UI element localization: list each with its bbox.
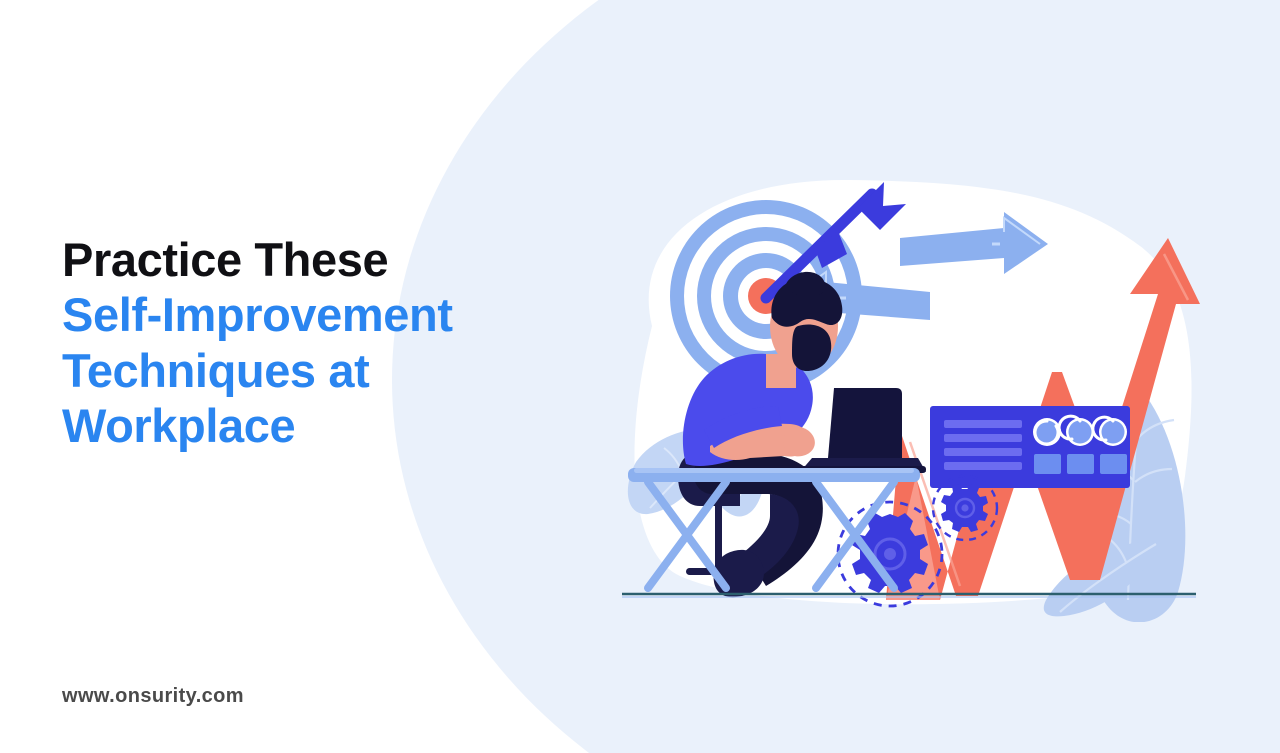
headline-line-3: Techniques at (62, 343, 622, 398)
dashboard-gauges (1033, 416, 1127, 446)
poster-canvas: Practice These Self-Improvement Techniqu… (0, 0, 1280, 753)
hero-illustration (600, 176, 1210, 622)
site-url: www.onsurity.com (62, 685, 244, 708)
headline-line-2: Self-Improvement (62, 287, 622, 342)
page-title: Practice These Self-Improvement Techniqu… (62, 232, 622, 454)
dashboard-tiles (1034, 454, 1127, 474)
headline-line-4: Workplace (62, 398, 622, 453)
headline-line-1: Practice These (62, 232, 622, 287)
